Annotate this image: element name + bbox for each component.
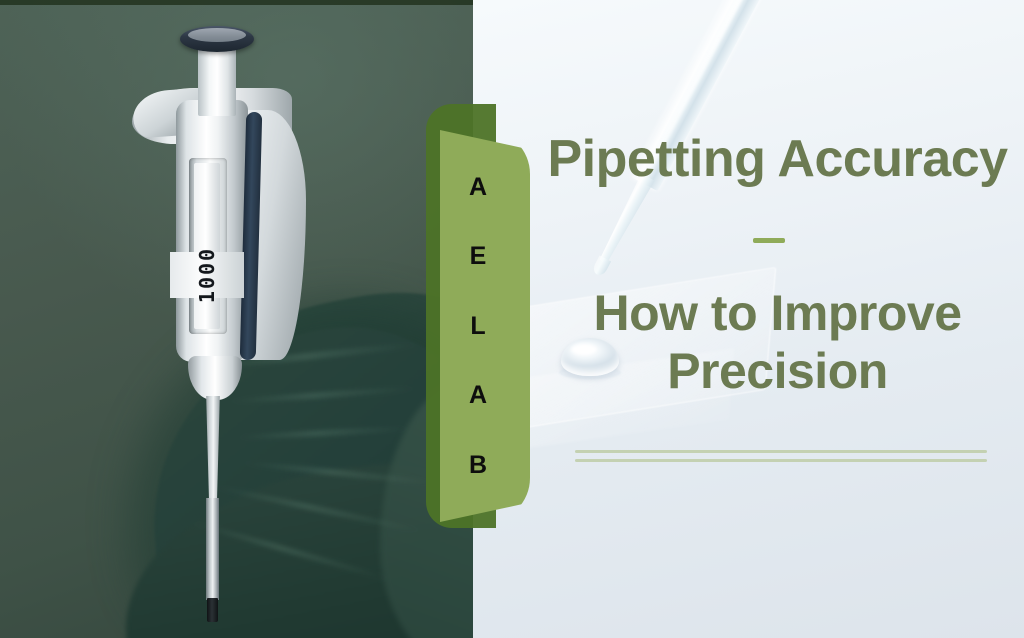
brand-letter-l: L (470, 314, 485, 339)
poster-canvas: 1000 A E L A B Pipetting A (0, 0, 1024, 638)
pipette-shaft-lower (206, 498, 219, 600)
brand-letter-b: B (469, 453, 487, 478)
pipette-neck (188, 356, 242, 400)
pipette-plunger-cap-highlight (188, 28, 246, 42)
left-image-panel: 1000 (0, 0, 473, 638)
subheadline-line-2: Precision (541, 342, 1014, 400)
bottom-rule-2 (575, 459, 987, 462)
micropipette-illustration: 1000 (0, 0, 473, 638)
brand-letter-a1: A (469, 175, 487, 200)
subheadline-line-1: How to Improve (541, 284, 1014, 342)
bottom-rule-1 (575, 450, 987, 453)
pipette-volume-digits: 1000 (170, 252, 244, 298)
brand-letter-e: E (470, 244, 487, 269)
brand-tab-letters: A E L A B (440, 130, 516, 522)
subheadline-title: How to Improve Precision (541, 284, 1014, 400)
pipette-plunger-shaft (198, 44, 236, 116)
bottom-rule-group (575, 450, 987, 462)
pipette-tip-ejector (207, 598, 218, 622)
headline-title: Pipetting Accuracy (531, 132, 1024, 186)
pipette-shaft-upper (204, 396, 222, 502)
brand-letter-a2: A (469, 383, 487, 408)
headline-dash-divider (753, 238, 785, 243)
